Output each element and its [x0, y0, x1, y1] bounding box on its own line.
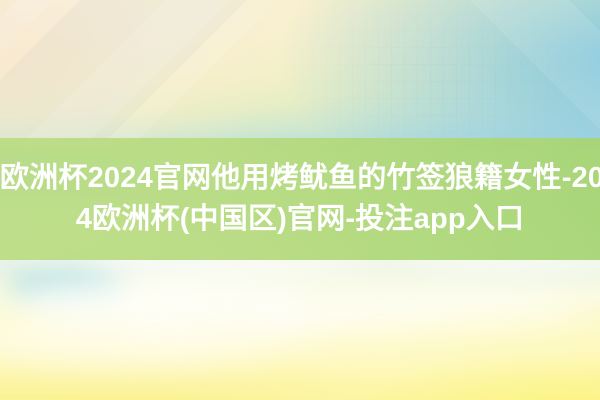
headline-line-1: 欧洲杯2024官网他用烤鱿鱼的竹签狼籍女性-202: [0, 162, 600, 194]
headline-band: 欧洲杯2024官网他用烤鱿鱼的竹签狼籍女性-202 4欧洲杯(中国区)官网-投注…: [0, 138, 600, 260]
promo-banner: 欧洲杯2024官网他用烤鱿鱼的竹签狼籍女性-202 4欧洲杯(中国区)官网-投注…: [0, 0, 600, 400]
top-right-texture: [300, 0, 600, 150]
headline-line-2: 4欧洲杯(中国区)官网-投注app入口: [0, 199, 600, 240]
banner-headline: 欧洲杯2024官网他用烤鱿鱼的竹签狼籍女性-202 4欧洲杯(中国区)官网-投注…: [0, 158, 600, 240]
